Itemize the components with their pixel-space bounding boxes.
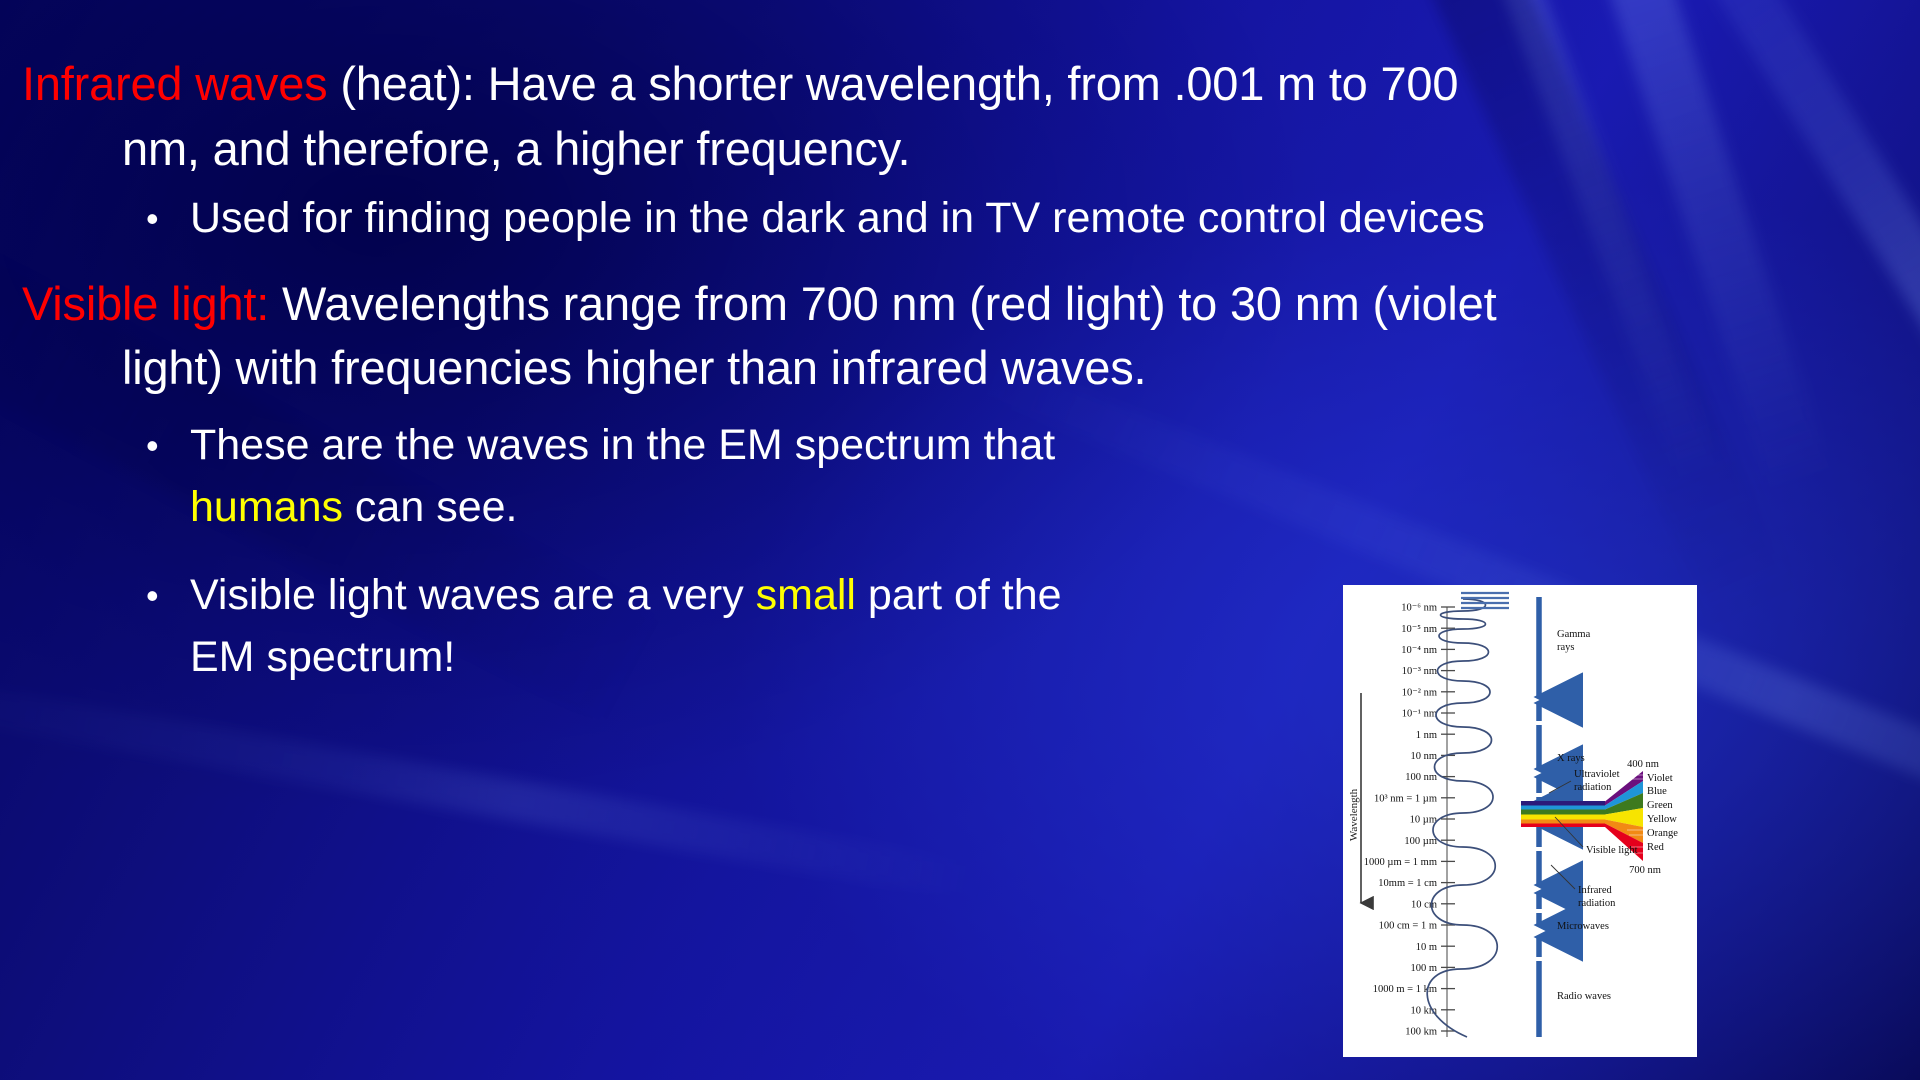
axis-tick-label: 10⁻² nm	[1402, 687, 1437, 698]
axis-tick-label: 10 cm	[1411, 899, 1437, 910]
band-label: radiation	[1574, 782, 1612, 793]
axis-tick-label: 10⁻⁵ nm	[1401, 624, 1437, 635]
paragraph-visible-light-text: Wavelengths range from 700 nm (red light…	[122, 277, 1496, 395]
visible-color-label: Blue	[1647, 786, 1667, 797]
band-label: Visible light	[1586, 845, 1638, 856]
band-label: X rays	[1557, 753, 1585, 764]
bullet-marker-icon: •	[146, 415, 159, 477]
bullet-infrared-uses-text: Used for finding people in the dark and …	[190, 194, 1485, 242]
axis-tick-label: 100 cm = 1 m	[1379, 921, 1437, 932]
svg-text:Wavelength: Wavelength	[1348, 788, 1360, 841]
bullet-infrared-uses: • Used for finding people in the dark an…	[22, 188, 1520, 250]
keyword-humans: humans	[190, 483, 343, 531]
bullet-humans-post: can see.	[343, 483, 518, 531]
em-spectrum-figure: Wavelength 10⁻⁶ nm10⁻⁵ nm10⁻⁴ nm10⁻³ nm1…	[1343, 585, 1697, 1057]
slide-canvas: Infrared waves (heat): Have a shorter wa…	[0, 0, 1920, 1080]
bullet-small-part: • Visible light waves are a very small p…	[22, 565, 1090, 689]
axis-tick-label: 10⁻³ nm	[1402, 666, 1437, 677]
paragraph-infrared: Infrared waves (heat): Have a shorter wa…	[22, 52, 1522, 182]
band-label: rays	[1557, 642, 1575, 653]
band-label: Radio waves	[1557, 991, 1611, 1002]
visible-color-label: Yellow	[1647, 814, 1677, 825]
visible-color-label: Red	[1647, 842, 1665, 853]
axis-tick-label: 10⁻¹ nm	[1402, 709, 1437, 720]
visible-color-label: Green	[1647, 800, 1673, 811]
axis-tick-label: 10 m	[1416, 942, 1437, 953]
keyword-small: small	[756, 571, 856, 619]
visible-color-label: Orange	[1647, 828, 1678, 839]
axis-tick-label: 10 nm	[1410, 751, 1437, 762]
axis-tick-label: 10⁻⁶ nm	[1401, 603, 1437, 614]
svg-text:700 nm: 700 nm	[1629, 865, 1661, 876]
axis-tick-label: 1000 µm = 1 mm	[1364, 857, 1437, 868]
bullet-marker-icon: •	[146, 565, 159, 627]
axis-tick-label: 100 m	[1410, 963, 1437, 974]
keyword-visible-light: Visible light:	[22, 277, 269, 330]
visible-band-stripe	[1521, 801, 1605, 827]
bullet-small-pre: Visible light waves are a very	[190, 571, 756, 619]
axis-tick-label: 10 µm	[1410, 815, 1437, 826]
axis-tick-label: 100 km	[1405, 1027, 1437, 1038]
band-label: Ultraviolet	[1574, 769, 1620, 780]
bullet-humans-pre: These are the waves in the EM spectrum t…	[190, 421, 1055, 469]
paragraph-visible-light: Visible light: Wavelengths range from 70…	[22, 272, 1522, 402]
band-label: Microwaves	[1557, 921, 1609, 932]
svg-text:400 nm: 400 nm	[1627, 759, 1659, 770]
bullet-marker-icon: •	[146, 188, 159, 250]
slide-body-text: Infrared waves (heat): Have a shorter wa…	[22, 52, 1522, 689]
axis-tick-label: 1 nm	[1416, 730, 1437, 741]
axis-tick-label: 10mm = 1 cm	[1378, 878, 1437, 889]
band-label: Infrared	[1578, 885, 1613, 896]
bullet-humans-can-see: • These are the waves in the EM spectrum…	[22, 415, 1090, 539]
visible-color-label: Violet	[1647, 773, 1673, 784]
axis-tick-label: 10³ nm = 1 µm	[1374, 793, 1437, 804]
swoosh-7	[0, 656, 994, 904]
axis-tick-label: 10⁻⁴ nm	[1401, 645, 1437, 656]
band-label: radiation	[1578, 898, 1616, 909]
keyword-infrared-waves: Infrared waves	[22, 57, 327, 110]
axis-tick-label: 100 nm	[1405, 772, 1437, 783]
band-label: Gamma	[1557, 629, 1591, 640]
axis-tick-label: 100 µm	[1404, 836, 1437, 847]
